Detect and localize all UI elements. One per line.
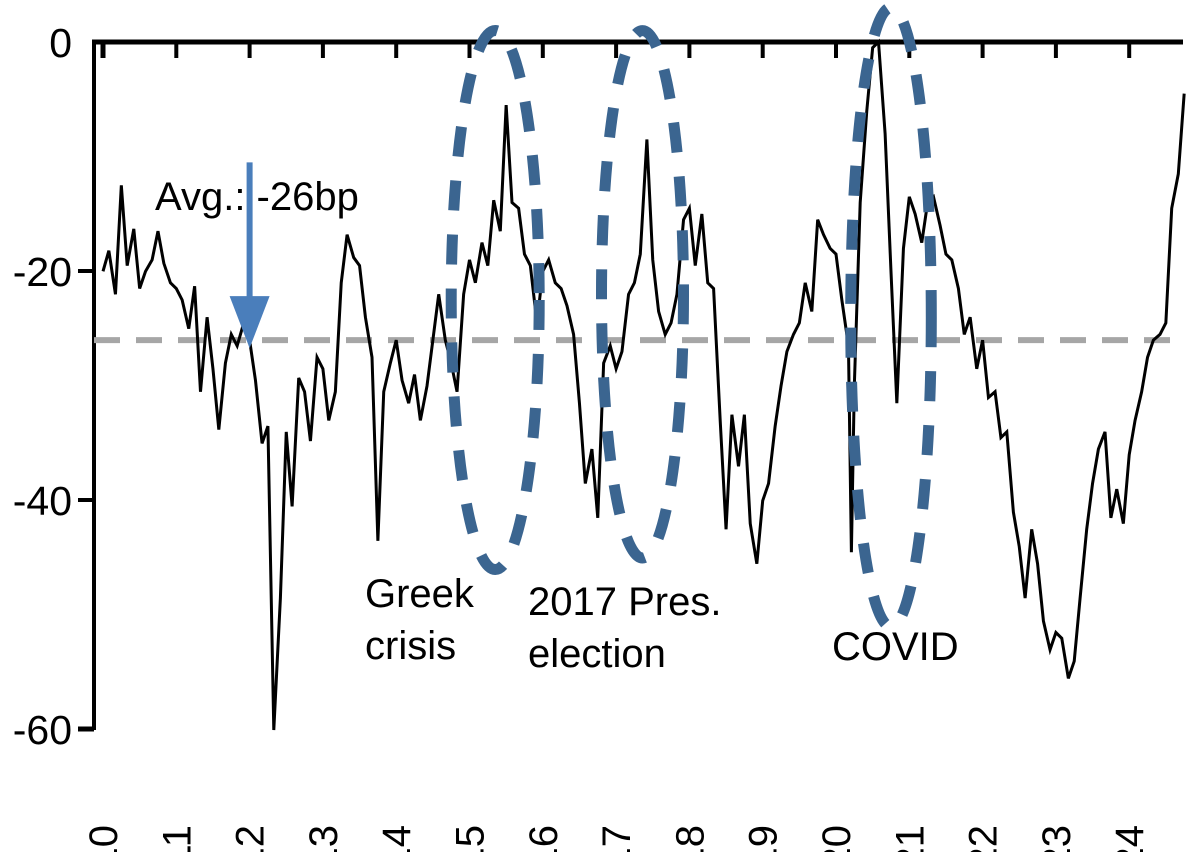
x-tick-label-2011: 2011 [155,825,199,852]
x-tick-label-2018: 2018 [668,825,712,852]
pres-election-label-line1: 2017 Pres. [528,580,721,624]
y-tick-label-m40: -40 [13,478,72,524]
covid-label: COVID [832,625,959,669]
pres-election-label-line2: election [528,632,666,676]
x-tick-label-2024: 2024 [1108,825,1152,852]
average-annotation-label: Avg.: -26bp [155,175,359,219]
x-axis-tick-labels: 2010201120122013201420152016201720182019… [82,825,1152,852]
y-tick-label-0: 0 [49,20,72,66]
x-tick-label-2016: 2016 [522,825,566,852]
x-tick-label-2023: 2023 [1035,825,1079,852]
x-tick-label-2021: 2021 [888,825,932,852]
line-chart: 0 -20 -40 -60 20102011201220132014201520… [0,0,1200,852]
x-tick-label-2014: 2014 [375,825,419,852]
x-tick-label-2010: 2010 [82,825,126,852]
x-tick-label-2013: 2013 [302,825,346,852]
x-tick-label-2020: 2020 [815,825,859,852]
greek-crisis-label-line1: Greek [365,572,475,616]
x-tick-label-2022: 2022 [962,825,1006,852]
y-tick-label-m60: -60 [13,707,72,753]
x-tick-label-2017: 2017 [595,825,639,852]
chart-container: 0 -20 -40 -60 20102011201220132014201520… [0,0,1200,852]
x-tick-label-2019: 2019 [742,825,786,852]
x-tick-label-2012: 2012 [229,825,273,852]
greek-crisis-label-line2: crisis [365,624,456,668]
x-tick-label-2015: 2015 [449,825,493,852]
y-tick-label-m20: -20 [13,249,72,295]
